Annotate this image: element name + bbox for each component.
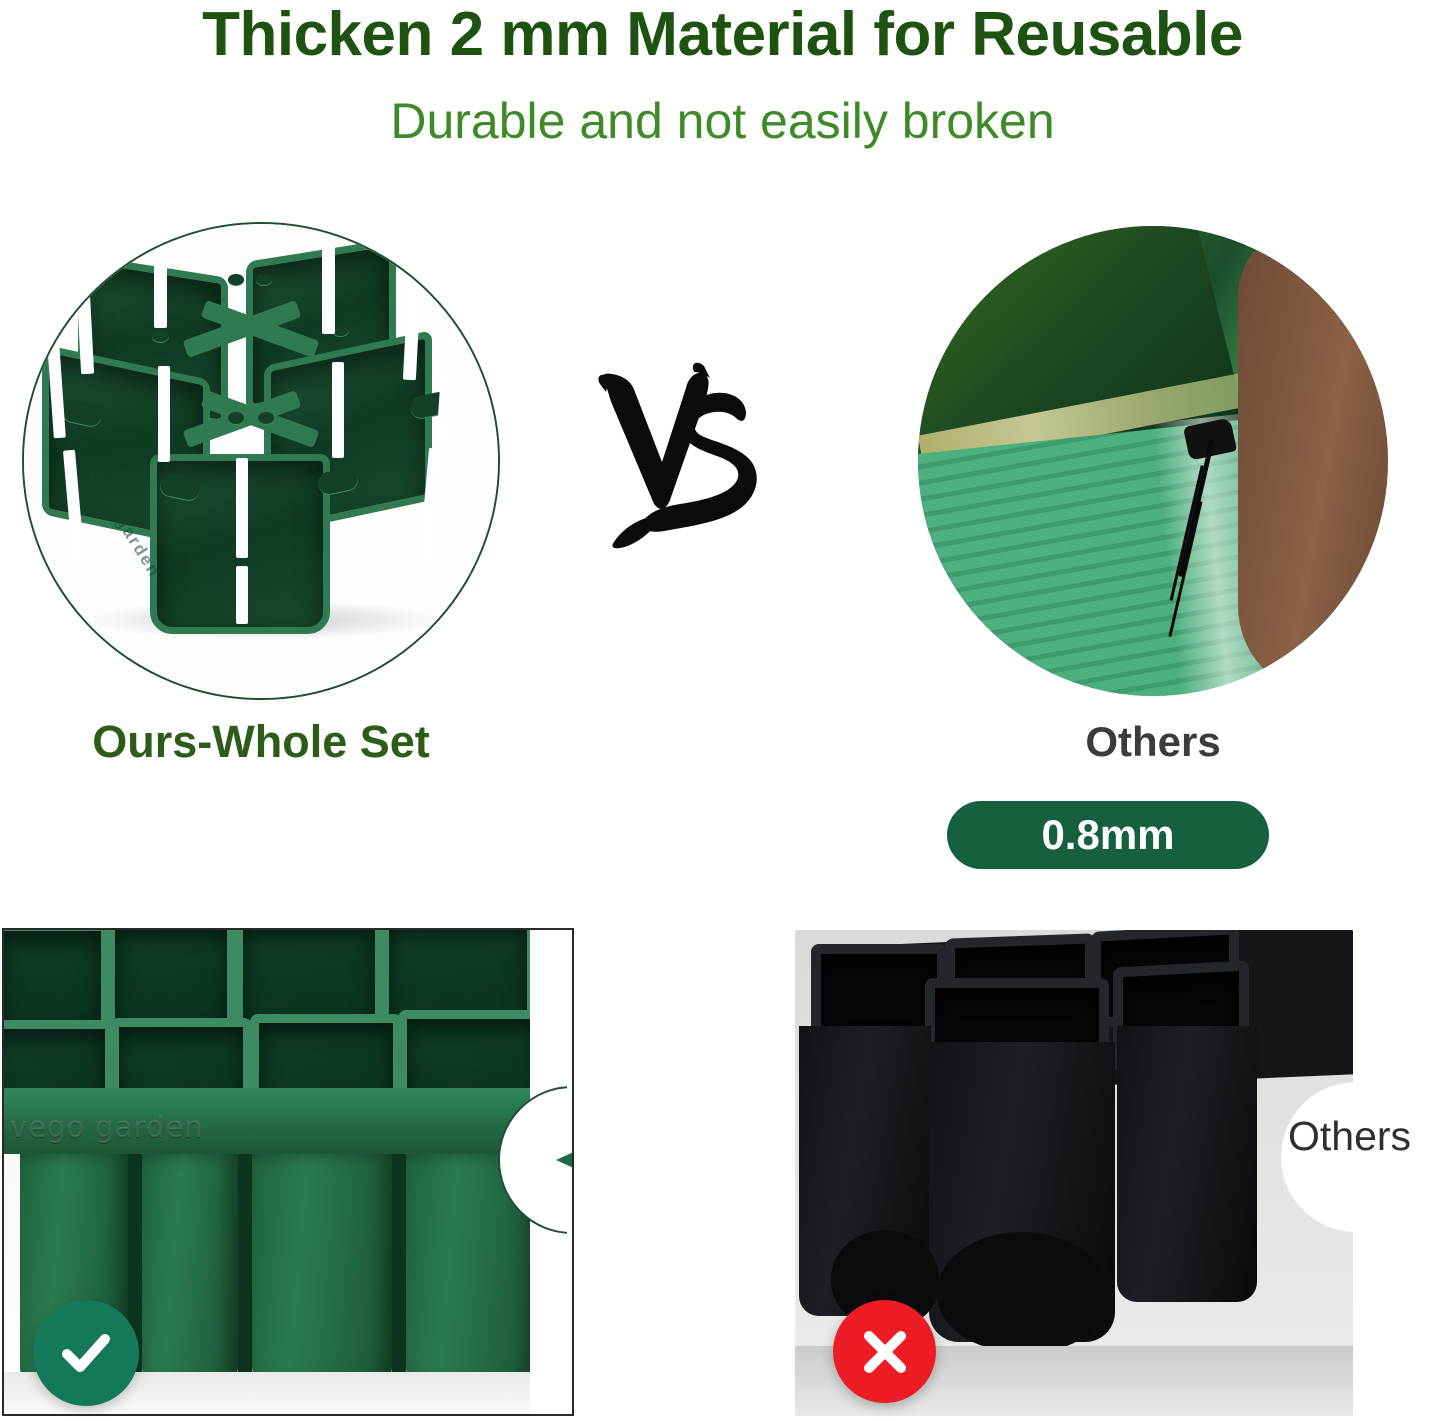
tray-body [32,244,494,574]
green-tray-illustration: vego garden [24,224,498,698]
check-icon [54,1321,118,1385]
others-circle-photo [918,226,1388,696]
product-infographic: Thicken 2 mm Material for Reusable Durab… [0,0,1445,1421]
cutout-fill [1353,930,1355,1416]
ours-circle-photo: vego garden [22,222,500,700]
vego-garden-logo-emboss: vego garden [10,1110,204,1144]
check-badge [33,1300,139,1406]
x-badge [833,1300,936,1403]
page-title: Thicken 2 mm Material for Reusable [0,2,1445,67]
x-icon [855,1322,915,1382]
left-arrow-icon [552,1116,574,1204]
others-label: Others [918,718,1388,766]
others-bottom-label: Others [1288,1113,1411,1160]
ours-label: Ours-Whole Set [22,716,500,768]
versus-mark [586,352,776,570]
thickness-badge: 0.8mm [947,801,1269,869]
cracked-pot-illustration [918,226,1388,696]
page-subtitle: Durable and not easily broken [0,94,1445,149]
